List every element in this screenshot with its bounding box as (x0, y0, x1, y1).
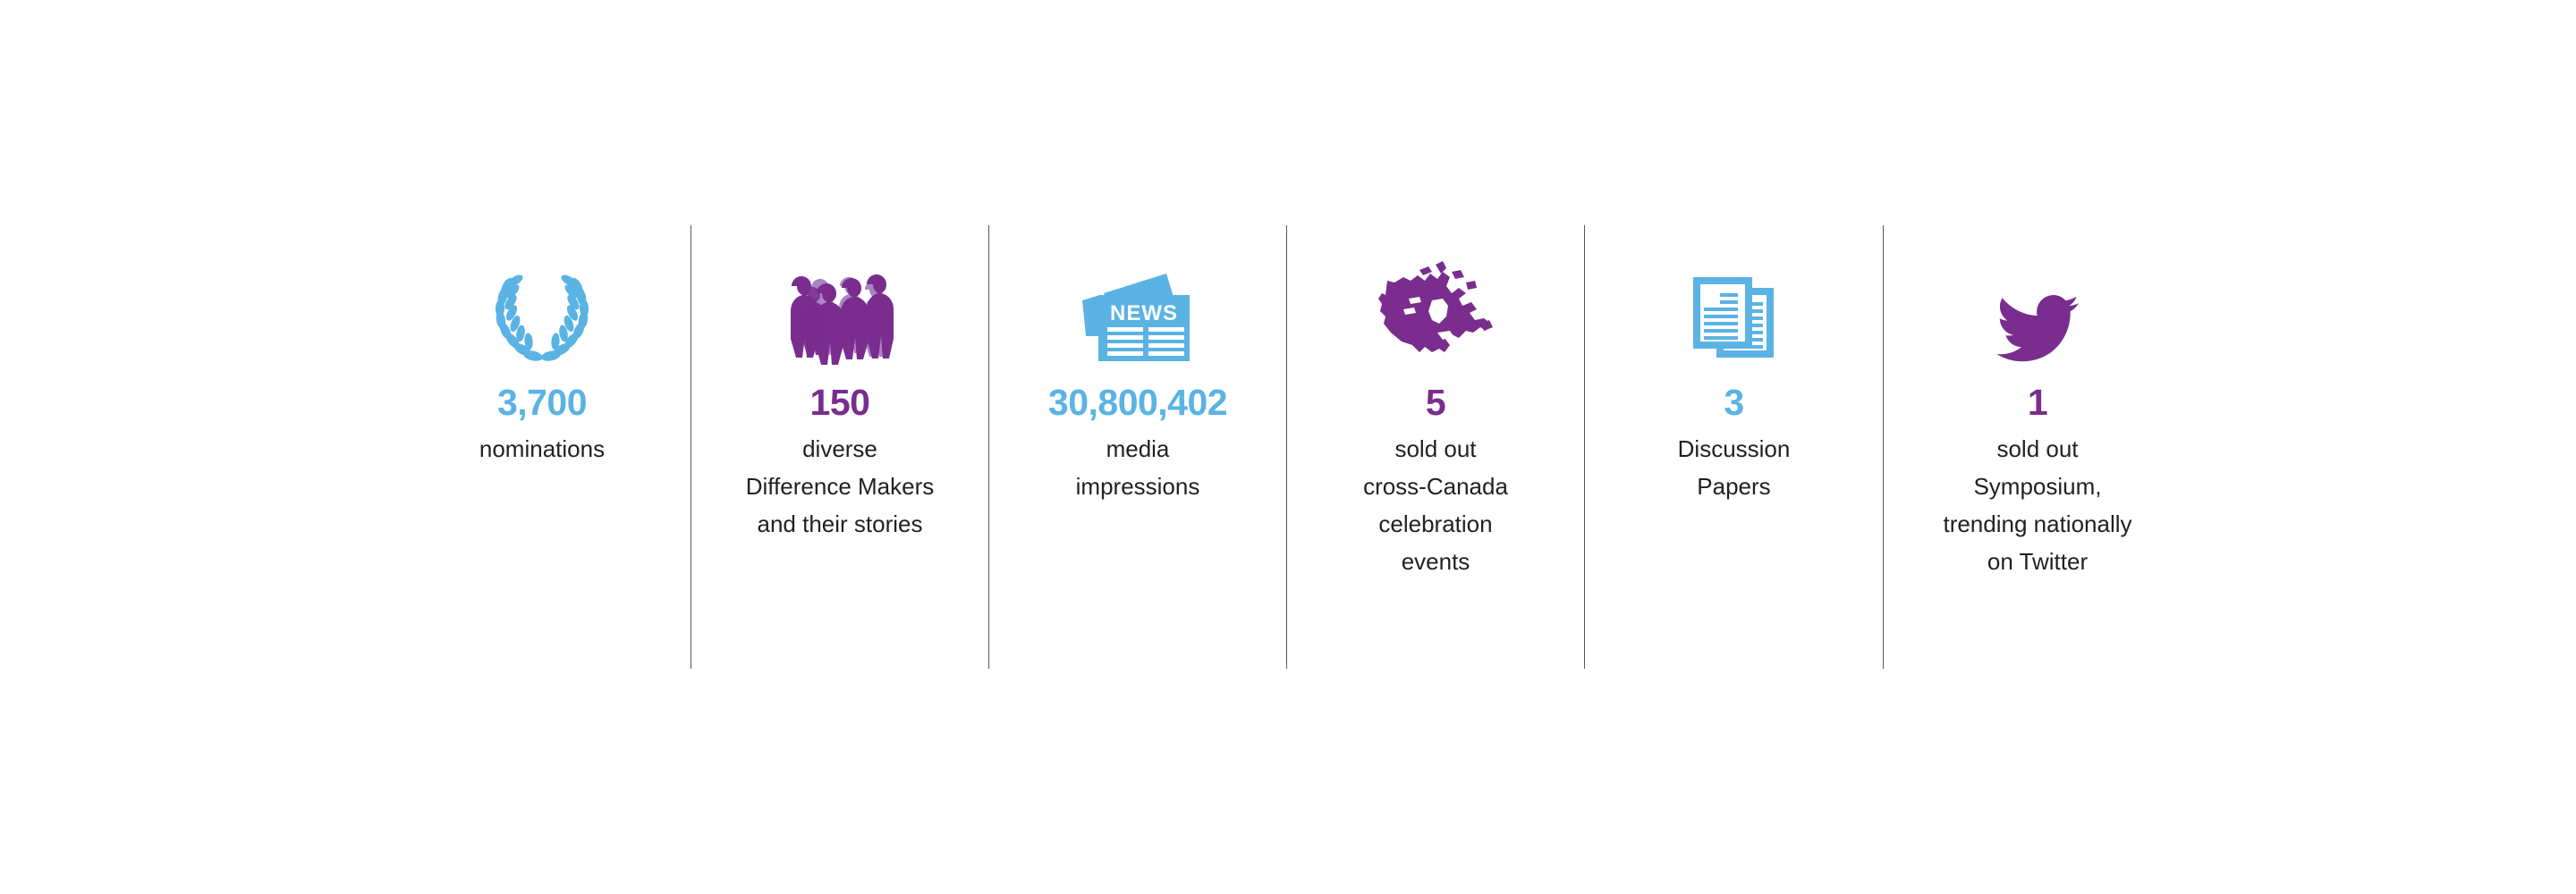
laurel-wreath-icon (394, 225, 691, 368)
stat-caption: Discussion Papers (1678, 430, 1791, 505)
stat-number: 3,700 (497, 384, 587, 421)
stat-number: 3 (1724, 384, 1743, 421)
stat-item-symposium-twitter: 1 sold out Symposium, trending nationall… (1884, 225, 2191, 669)
svg-text:NEWS: NEWS (1110, 301, 1178, 325)
twitter-bird-icon (1884, 225, 2191, 368)
stat-caption: nominations (479, 430, 605, 468)
stat-caption: sold out Symposium, trending nationally … (1943, 430, 2131, 580)
stat-caption: diverse Difference Makers and their stor… (746, 430, 935, 543)
stat-item-celebration-events: 5 sold out cross-Canada celebration even… (1287, 225, 1584, 669)
stat-number: 5 (1426, 384, 1445, 421)
stat-item-discussion-papers: 3 Discussion Papers (1585, 225, 1883, 669)
canada-map-icon (1287, 225, 1584, 368)
stat-caption: media impressions (1076, 430, 1200, 505)
documents-icon (1585, 225, 1883, 368)
stat-number: 150 (810, 384, 870, 421)
stat-item-difference-makers: 150 diverse Difference Makers and their … (691, 225, 988, 669)
newspaper-icon: NEWS (989, 225, 1286, 368)
stat-number: 1 (2028, 384, 2047, 421)
infographic-stats-banner: 3,700 nominations (0, 0, 2576, 894)
stat-item-media-impressions: NEWS 30,800,402 media impressio (989, 225, 1286, 669)
stat-caption: sold out cross-Canada celebration events (1363, 430, 1508, 580)
stat-number: 30,800,402 (1048, 384, 1227, 421)
group-of-people-icon (691, 225, 988, 368)
stat-item-nominations: 3,700 nominations (394, 225, 691, 669)
stats-row: 3,700 nominations (394, 225, 2187, 669)
